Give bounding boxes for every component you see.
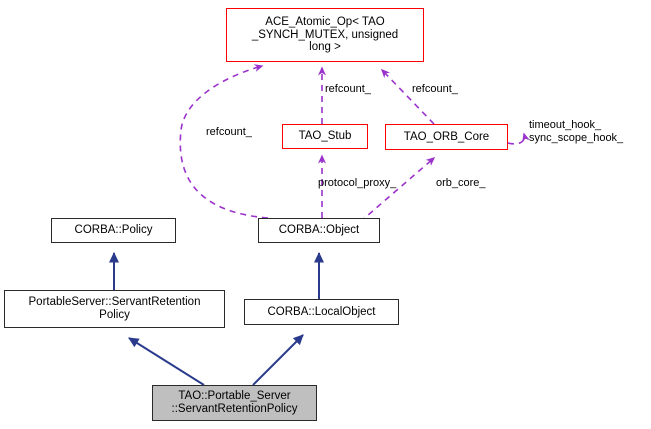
class-node-label: CORBA::LocalObject [245, 306, 398, 319]
edge-label-protocol-proxy: protocol_proxy_ [318, 177, 396, 190]
class-node-tao-portable-server-servantretentionpolicy[interactable]: TAO::Portable_Server ::ServantRetentionP… [152, 385, 317, 421]
edge-inherit-taopsrp-to-localobject [253, 335, 303, 385]
class-node-corba-localobject[interactable]: CORBA::LocalObject [244, 299, 399, 325]
edge-label-timeout-sync-hooks: timeout_hook_ sync_scope_hook_ [529, 119, 623, 144]
class-node-label: CORBA::Policy [52, 224, 175, 237]
edge-refcount-object-to-atomicop [180, 66, 268, 218]
class-node-ace-atomic-op[interactable]: ACE_Atomic_Op< TAO _SYNCH_MUTEX, unsigne… [226, 8, 424, 62]
edge-orb-core-object-to-orbcore [360, 158, 434, 222]
class-node-portableserver-servantretentionpolicy[interactable]: PortableServer::ServantRetention Policy [4, 290, 225, 328]
class-node-tao-orb-core[interactable]: TAO_ORB_Core [385, 124, 508, 150]
uml-class-diagram: ACE_Atomic_Op< TAO _SYNCH_MUTEX, unsigne… [0, 0, 651, 429]
class-node-label: CORBA::Object [259, 224, 379, 237]
edge-label-refcount-middle: refcount_ [325, 83, 371, 96]
edge-label-refcount-right: refcount_ [412, 83, 458, 96]
class-node-label: TAO::Portable_Server ::ServantRetentionP… [153, 390, 316, 416]
class-node-label: TAO_Stub [283, 130, 367, 143]
class-node-corba-policy[interactable]: CORBA::Policy [51, 218, 176, 243]
class-node-label: PortableServer::ServantRetention Policy [5, 296, 224, 322]
edge-label-orb-core: orb_core_ [436, 177, 486, 190]
edge-label-refcount-left: refcount_ [206, 126, 252, 139]
class-node-tao-stub[interactable]: TAO_Stub [282, 124, 368, 149]
class-node-label: ACE_Atomic_Op< TAO _SYNCH_MUTEX, unsigne… [227, 16, 423, 55]
class-node-label: TAO_ORB_Core [386, 131, 507, 144]
edge-inherit-taopsrp-to-psretention [129, 338, 204, 385]
edge-refcount-orbcore-to-atomicop [382, 70, 434, 124]
edge-hooks-stub-to-orbcore [508, 134, 524, 144]
class-node-corba-object[interactable]: CORBA::Object [258, 218, 380, 243]
edge-layer [0, 0, 651, 429]
